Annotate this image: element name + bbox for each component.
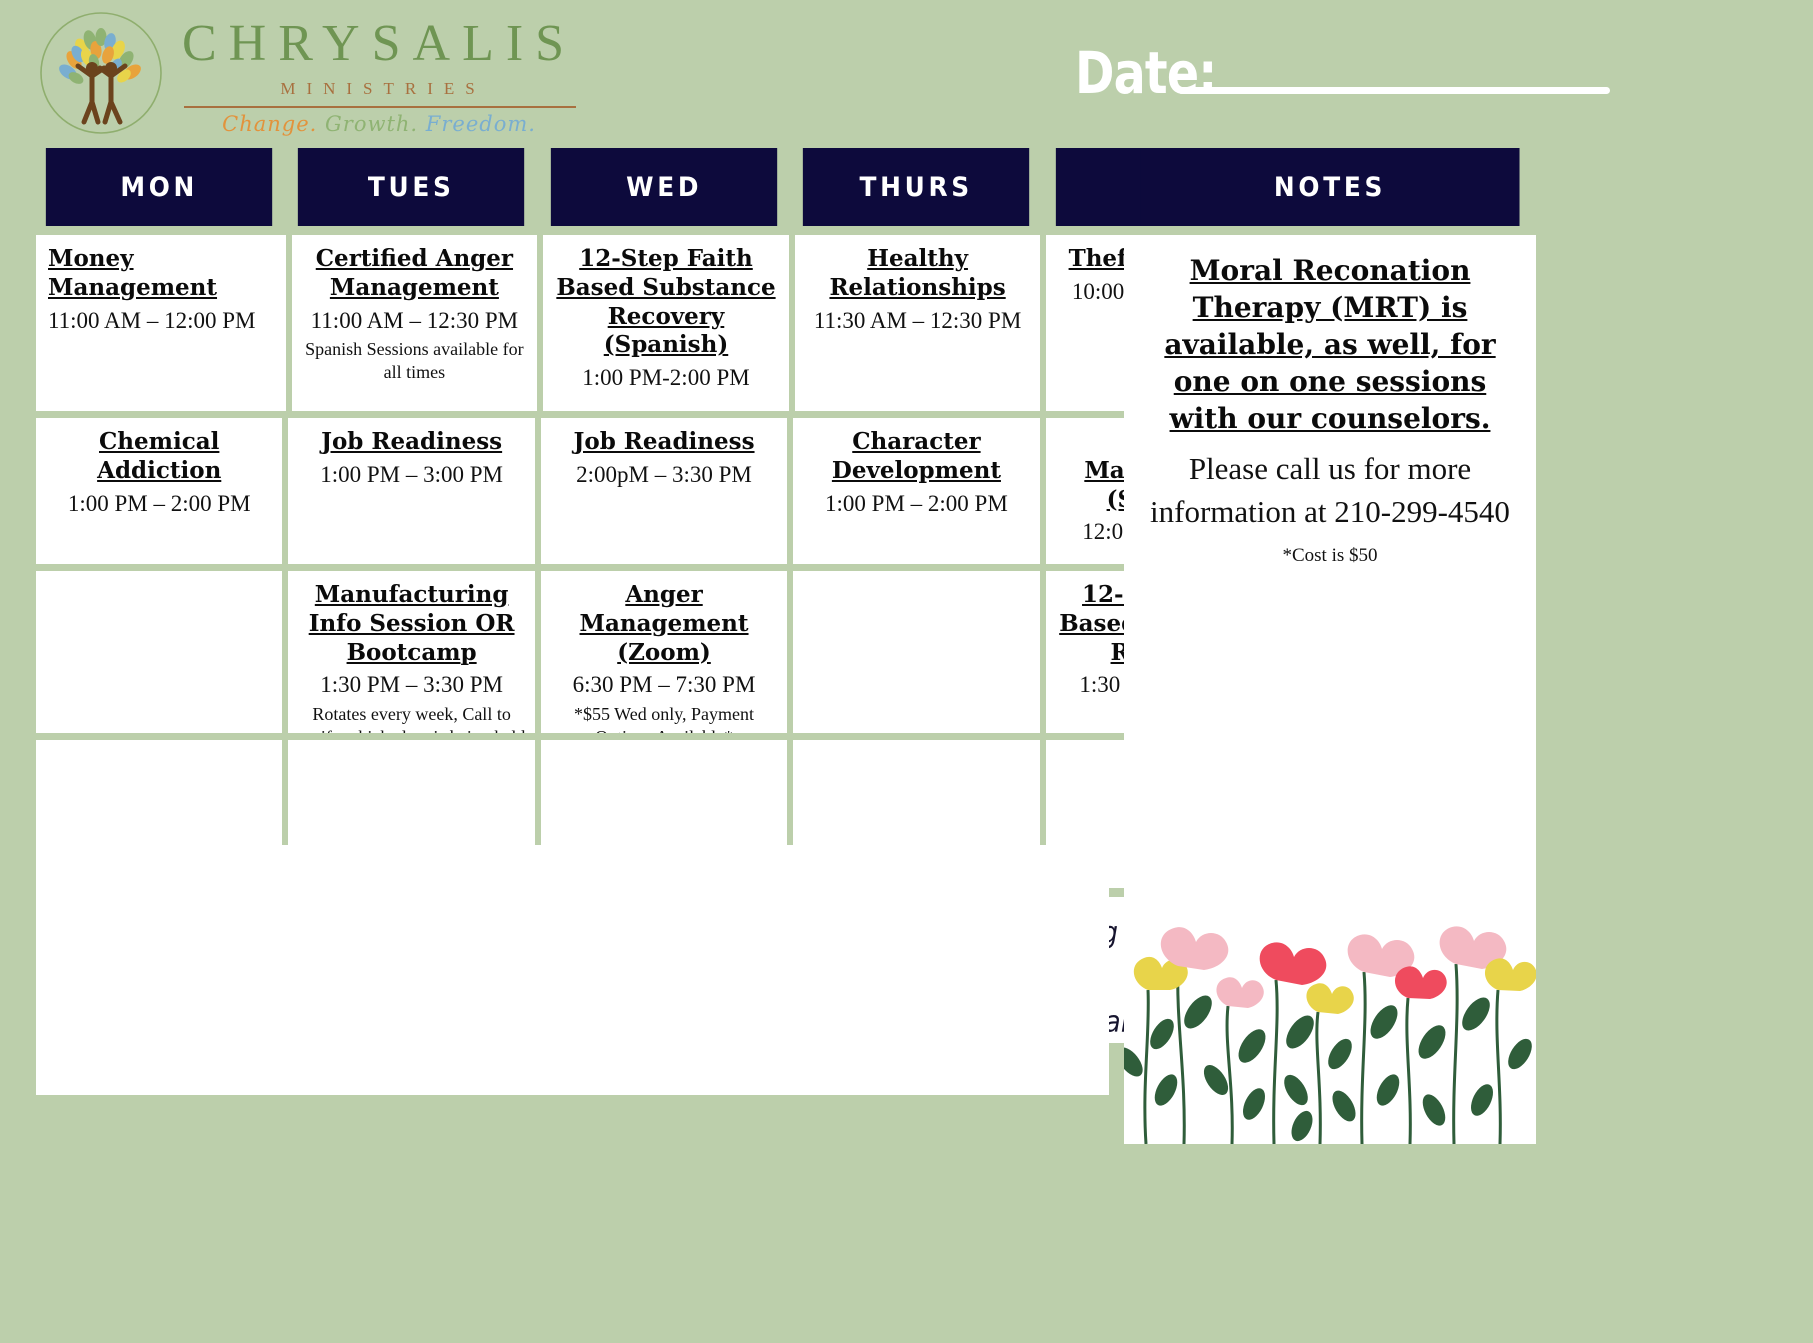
date-write-line[interactable] [1178, 87, 1610, 94]
calendar-row: Chemical Addiction 1:00 PM – 2:00 PM Job… [36, 418, 1292, 564]
class-title: Certified Anger Management [300, 245, 530, 303]
class-time: 11:00 AM – 12:30 PM [300, 306, 530, 336]
notes-contact-text: Please call us for more information at 2… [1138, 448, 1522, 534]
date-field[interactable]: Date: [1075, 44, 1610, 102]
class-cell[interactable]: Money Management 11:00 AM – 12:00 PM [36, 235, 286, 411]
flower-illustration-icon [1124, 894, 1536, 1144]
day-header-row: MON TUES WED THURS FRI [36, 148, 1292, 226]
class-cell[interactable]: Chemical Addiction 1:00 PM – 2:00 PM [36, 418, 282, 564]
class-time: 6:30 PM – 7:30 PM [549, 670, 779, 700]
notes-cost-text: *Cost is $50 [1138, 545, 1522, 567]
class-cell[interactable]: Healthy Relationships 11:30 AM – 12:30 P… [795, 235, 1041, 411]
tagline-freedom: Freedom. [426, 112, 536, 136]
class-cell[interactable]: Job Readiness 2:00pM – 3:30 PM [541, 418, 787, 564]
class-time: 1:30 PM – 3:30 PM [296, 670, 526, 700]
tagline-change: Change. [222, 112, 317, 136]
class-time: 1:00 PM-2:00 PM [551, 363, 781, 393]
calendar-row: Manufacturing Info Session OR Bootcamp 1… [36, 571, 1292, 733]
brand-tagline: Change. Growth. Freedom. [182, 112, 576, 136]
notes-panel: NOTES Moral Reconation Therapy (MRT) is … [1124, 148, 1536, 1144]
class-time: 1:00 PM – 2:00 PM [44, 489, 274, 519]
class-note: Rotates every week, Call to verify which… [296, 703, 526, 733]
class-cell[interactable]: Manufacturing Info Session OR Bootcamp 1… [288, 571, 534, 733]
tree-people-logo-icon [38, 10, 164, 136]
date-label: Date: [1075, 44, 1216, 102]
day-header-mon: MON [46, 148, 273, 226]
class-time: 11:30 AM – 12:30 PM [803, 306, 1033, 336]
class-title: 12-Step Faith Based Substance Recovery (… [551, 245, 781, 360]
brand-logo: CHRYSALIS MINISTRIES Change. Growth. Fre… [38, 10, 576, 136]
brand-subtitle: MINISTRIES [182, 70, 576, 99]
class-title: Anger Management (Zoom) [549, 581, 779, 667]
day-header-thurs: THURS [803, 148, 1030, 226]
class-cell[interactable]: 12-Step Faith Based Substance Recovery (… [543, 235, 789, 411]
class-title: Chemical Addiction [44, 428, 274, 486]
class-title: Money Management [48, 245, 278, 303]
class-cell[interactable]: Anger Management (Zoom) 6:30 PM – 7:30 P… [541, 571, 787, 733]
class-time: 11:00 AM – 12:00 PM [48, 306, 278, 336]
notes-mrt-text: Moral Reconation Therapy (MRT) is availa… [1138, 253, 1522, 438]
class-title: Job Readiness [296, 428, 526, 457]
day-header-wed: WED [551, 148, 778, 226]
class-cell[interactable]: Job Readiness 1:00 PM – 3:00 PM [288, 418, 534, 564]
calendar-row: Money Management 11:00 AM – 12:00 PM Cer… [36, 235, 1292, 411]
notes-header: NOTES [1140, 148, 1519, 226]
class-cell-empty[interactable] [36, 571, 282, 733]
class-cell[interactable]: Character Development 1:00 PM – 2:00 PM [793, 418, 1039, 564]
class-title: Manufacturing Info Session OR Bootcamp [296, 581, 526, 667]
page-header: CHRYSALIS MINISTRIES Change. Growth. Fre… [0, 0, 1813, 150]
calendar-rows: Money Management 11:00 AM – 12:00 PM Cer… [36, 235, 1292, 888]
class-note: Spanish Sessions available for all times [300, 338, 530, 383]
my-schedule-writing-area[interactable] [36, 845, 1109, 1095]
class-cell[interactable]: Certified Anger Management 11:00 AM – 12… [292, 235, 538, 411]
class-time: 1:00 PM – 2:00 PM [801, 489, 1031, 519]
day-header-tues: TUES [298, 148, 525, 226]
class-title: Job Readiness [549, 428, 779, 457]
brand-name: CHRYSALIS [182, 18, 576, 70]
class-note: *$55 Wed only, Payment Options Available… [549, 703, 779, 733]
class-cell-empty[interactable] [793, 571, 1039, 733]
class-title: Character Development [801, 428, 1031, 486]
notes-content[interactable]: Moral Reconation Therapy (MRT) is availa… [1124, 235, 1536, 1144]
brand-wordmark: CHRYSALIS MINISTRIES Change. Growth. Fre… [182, 10, 576, 136]
class-time: 2:00pM – 3:30 PM [549, 460, 779, 490]
brand-divider [184, 106, 576, 108]
class-title: Healthy Relationships [803, 245, 1033, 303]
tagline-growth: Growth. [325, 112, 418, 136]
class-time: 1:00 PM – 3:00 PM [296, 460, 526, 490]
